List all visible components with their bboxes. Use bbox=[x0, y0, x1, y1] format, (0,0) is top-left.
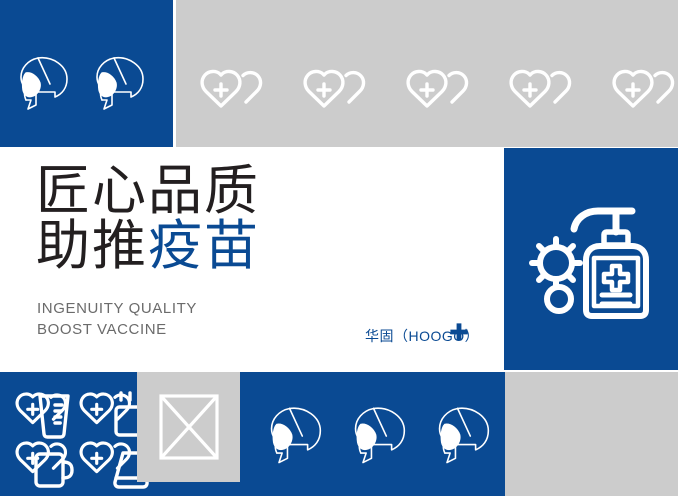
double-heart-plus-icon bbox=[299, 68, 369, 116]
double-heart-plus-icon bbox=[402, 68, 472, 116]
masked-head-icon bbox=[12, 50, 78, 116]
top-band bbox=[0, 0, 678, 147]
masked-head-icon bbox=[346, 400, 416, 470]
measuring-beaker-icon bbox=[31, 390, 77, 440]
mug-icon bbox=[31, 444, 77, 494]
masked-head-icon bbox=[88, 50, 154, 116]
crossed-box-placeholder bbox=[137, 372, 240, 482]
top-mask-icon-group bbox=[12, 50, 154, 116]
double-heart-plus-icon bbox=[608, 68, 678, 116]
headline-block: 匠心品质 助推疫苗 bbox=[36, 163, 260, 273]
headline-line-2-highlight: 疫苗 bbox=[148, 214, 260, 277]
plus-cross-mark-icon bbox=[449, 322, 469, 342]
sanitizer-illustration bbox=[528, 200, 662, 324]
top-heart-icon-group bbox=[196, 68, 678, 116]
headline-line-2: 助推疫苗 bbox=[36, 218, 260, 273]
subtitle-text: INGENUITY QUALITY BOOST VACCINE bbox=[37, 298, 197, 341]
double-heart-plus-icon bbox=[505, 68, 575, 116]
crossed-box-placeholder-icon bbox=[157, 392, 221, 462]
bottom-gray-panel bbox=[505, 372, 678, 496]
poster-canvas: 匠心品质 助推疫苗 INGENUITY QUALITY BOOST VACCIN… bbox=[0, 0, 678, 496]
masked-head-icon bbox=[262, 400, 332, 470]
middle-band: 匠心品质 助推疫苗 INGENUITY QUALITY BOOST VACCIN… bbox=[0, 148, 678, 370]
masked-head-icon bbox=[430, 400, 500, 470]
headline-line-2-dark: 助推 bbox=[36, 214, 148, 277]
bottom-mask-icon-group bbox=[262, 400, 500, 470]
headline-line-1: 匠心品质 bbox=[36, 163, 260, 218]
bottom-band bbox=[0, 372, 678, 496]
double-heart-plus-icon bbox=[196, 68, 266, 116]
